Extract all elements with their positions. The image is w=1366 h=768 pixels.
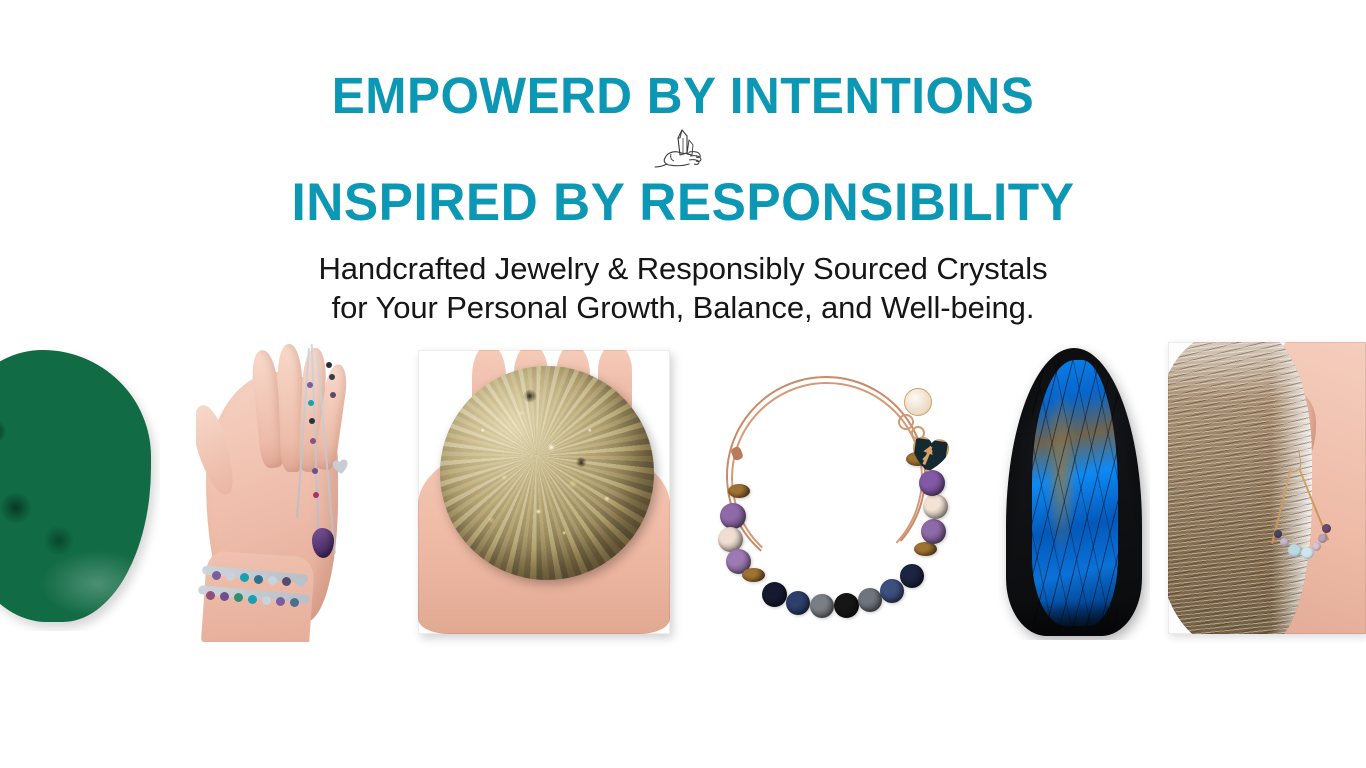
bead <box>248 595 257 604</box>
bead <box>1280 538 1289 546</box>
bead <box>313 492 319 498</box>
bead <box>262 596 271 605</box>
headline-line-2: INSPIRED BY RESPONSIBILITY <box>20 176 1345 230</box>
bead <box>308 400 314 406</box>
labradorite-dark-edge <box>1006 348 1142 636</box>
earring-scene <box>1168 342 1366 634</box>
subtitle-block: Handcrafted Jewelry & Responsibly Source… <box>0 249 1366 327</box>
bead <box>309 418 315 424</box>
bead <box>742 568 765 582</box>
bead <box>1312 542 1321 551</box>
bead <box>923 494 948 519</box>
disc-charm <box>904 388 932 416</box>
pyrite-sphere <box>440 366 654 580</box>
bead <box>834 593 859 618</box>
product-image-labradorite <box>998 344 1150 640</box>
pyrite-scene <box>418 350 670 634</box>
hand-holding-crystal-icon <box>637 126 729 170</box>
bead <box>326 362 332 368</box>
bead <box>276 597 285 606</box>
product-image-beaded-bangle <box>690 372 980 622</box>
earring-hoop <box>1268 468 1326 550</box>
bead <box>206 591 215 600</box>
headline-block: EMPOWERD BY INTENTIONS INS <box>0 70 1366 230</box>
bead <box>728 484 750 498</box>
bead <box>310 438 316 444</box>
bead <box>880 579 904 603</box>
bead <box>268 576 277 585</box>
crystal-divider <box>0 124 1366 172</box>
bead <box>762 582 787 607</box>
product-image-model-earring <box>1168 342 1366 634</box>
bead <box>900 564 924 588</box>
product-image-pyrite-sphere <box>418 350 670 634</box>
bead <box>810 594 834 618</box>
product-image-hand-with-necklaces <box>196 342 396 642</box>
bead <box>921 519 946 544</box>
promotional-banner: EMPOWERD BY INTENTIONS INS <box>0 0 1366 768</box>
product-image-malachite-slab <box>0 346 160 631</box>
subtitle-line-2: for Your Personal Growth, Balance, and W… <box>0 288 1366 327</box>
bead <box>307 382 313 388</box>
bead <box>1274 530 1282 538</box>
subtitle-line-1: Handcrafted Jewelry & Responsibly Source… <box>0 249 1366 288</box>
product-photo-strip <box>0 338 1366 643</box>
bead <box>720 503 746 529</box>
bead <box>1318 534 1327 543</box>
headline-line-1: EMPOWERD BY INTENTIONS <box>20 70 1345 122</box>
bead <box>919 470 945 496</box>
bead <box>212 571 221 580</box>
bead <box>914 542 937 556</box>
bead <box>254 575 263 584</box>
labradorite-stone <box>1006 348 1142 636</box>
bead <box>220 592 229 601</box>
bead <box>858 588 882 612</box>
malachite-stone <box>0 350 151 622</box>
bead <box>329 374 335 380</box>
bead <box>312 468 318 474</box>
bead <box>786 591 810 615</box>
bead <box>330 392 336 398</box>
